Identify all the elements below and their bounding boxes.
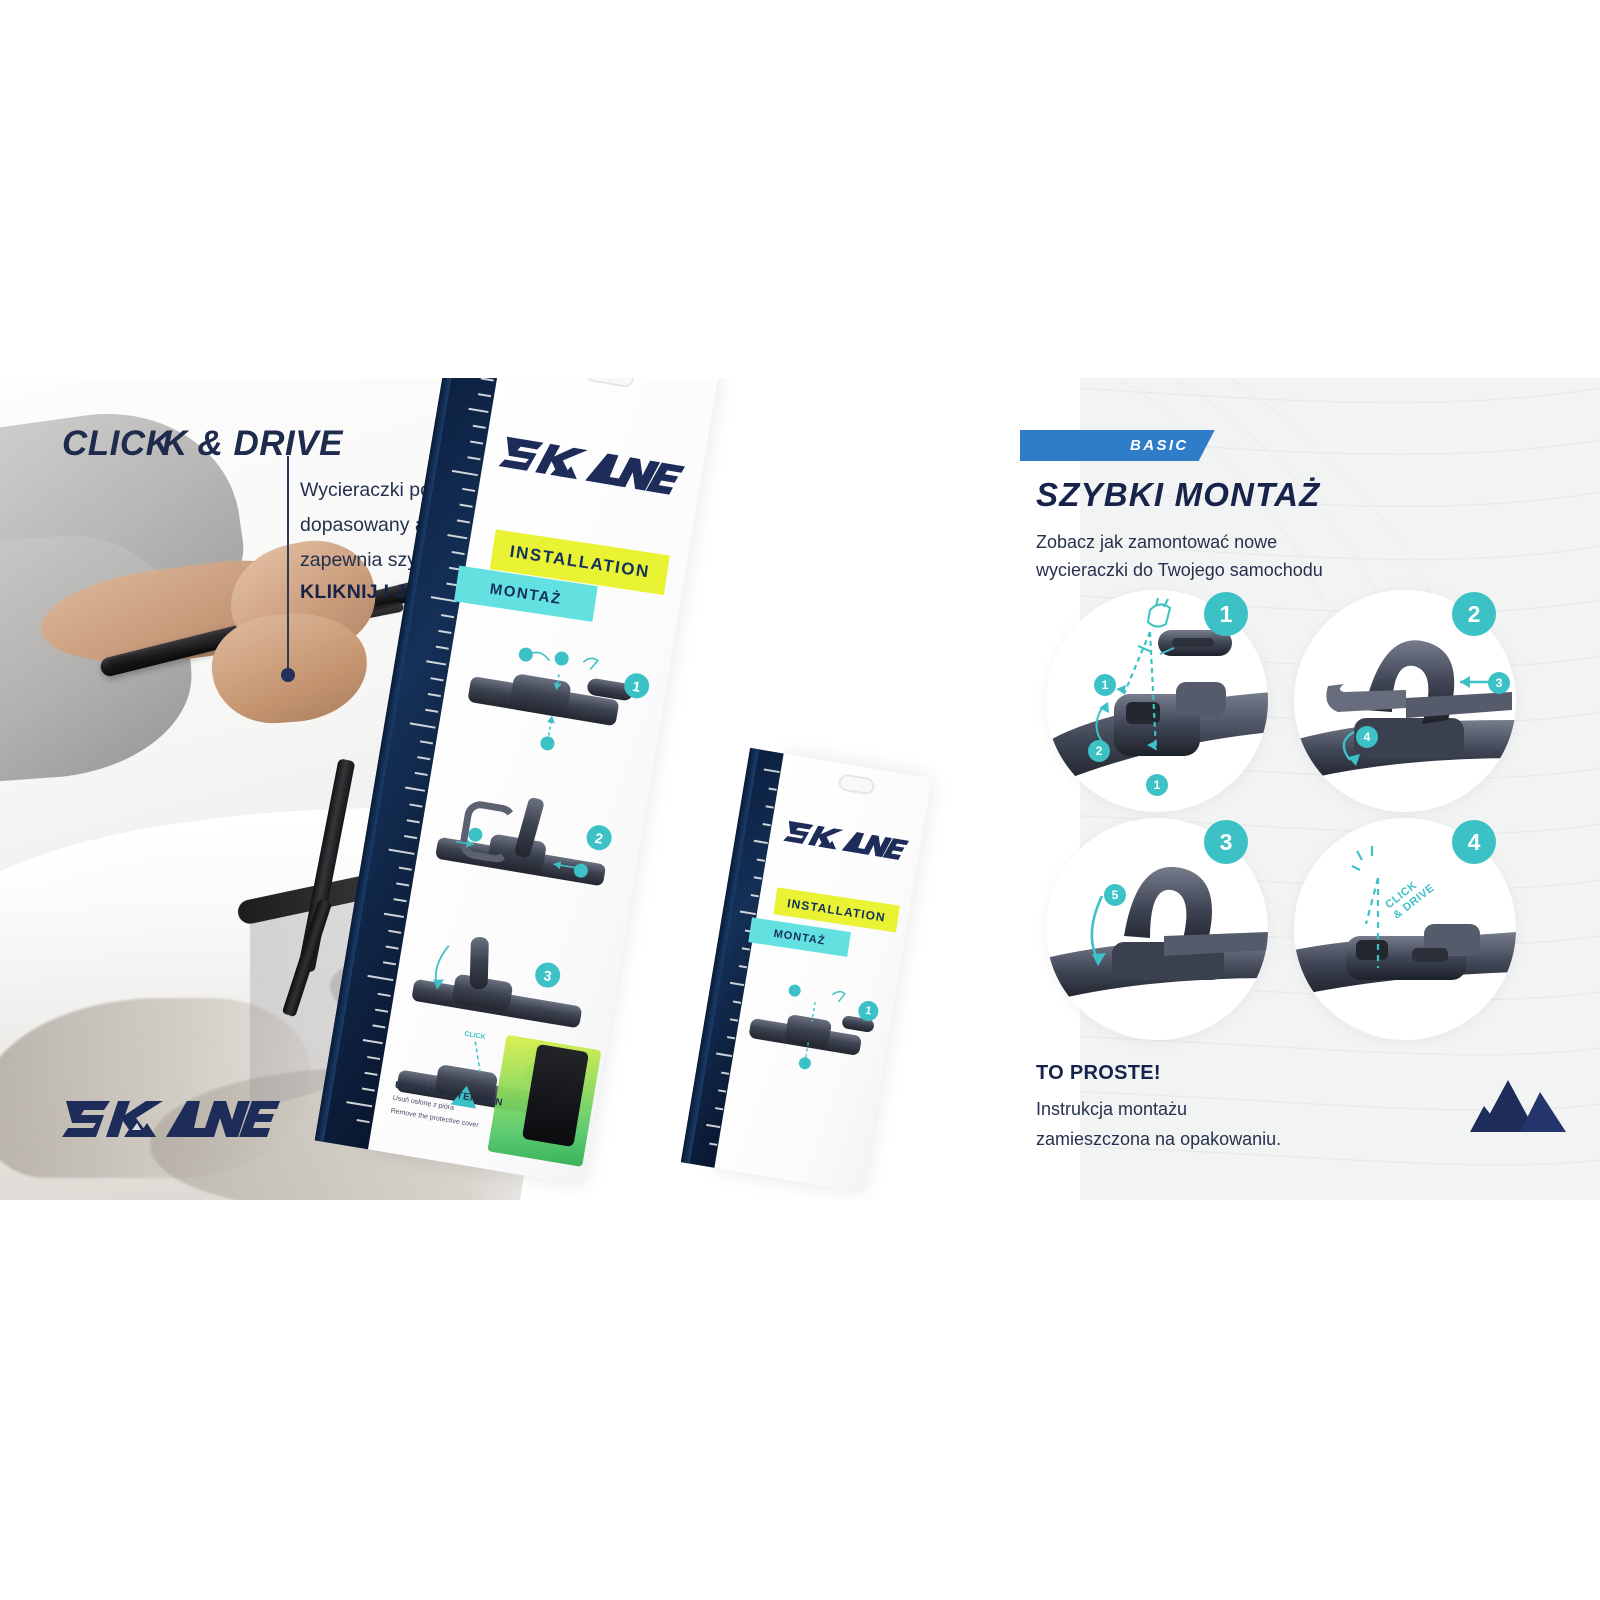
step-number-1: 1 [1204, 592, 1248, 636]
package-step-illustration-1: 1 [742, 970, 882, 1085]
step-mark: 1 [1146, 774, 1168, 796]
easy-body-line-1: Instrukcja montażu [1036, 1094, 1376, 1124]
step-number-3: 3 [1204, 820, 1248, 864]
content-band: CLICKK & DRIVE Wycieraczki posiadają dop… [0, 378, 1600, 1200]
headline-pre: CLIC [62, 424, 146, 463]
step-mark: 4 [1356, 726, 1378, 748]
product-packaging-group: INSTALLATION MONTAŻ 1 [380, 378, 1060, 1200]
right-title: SZYBKI MONTAŻ [1036, 476, 1320, 514]
package-large: INSTALLATION MONTAŻ 1 [368, 378, 720, 1185]
connector-line [287, 456, 289, 674]
brand-logo-left [62, 1092, 280, 1138]
click-and-drive-title: CLICKK & DRIVE [62, 424, 343, 464]
package-small: INSTALLATION MONTAŻ 1 [714, 754, 931, 1193]
right-subtitle-line-1: Zobacz jak zamontować nowe [1036, 528, 1426, 556]
step-number-2: 2 [1452, 592, 1496, 636]
step-mark: 5 [1104, 884, 1126, 906]
easy-body: Instrukcja montażu zamieszczona na opako… [1036, 1094, 1376, 1154]
easy-title: TO PROSTE! [1036, 1062, 1161, 1085]
headline-chevron-k: KK [146, 424, 179, 463]
right-panel: BASIC SZYBKI MONTAŻ Zobacz jak zamontowa… [1030, 378, 1600, 1200]
step-number-4: 4 [1452, 820, 1496, 864]
basic-badge: BASIC [1020, 430, 1215, 461]
step-mark: 3 [1488, 672, 1510, 694]
easy-body-line-2: zamieszczona na opakowaniu. [1036, 1124, 1376, 1154]
right-subtitle: Zobacz jak zamontować nowe wycieraczki d… [1036, 528, 1426, 584]
headline-post: & DRIVE [187, 424, 343, 463]
step-mark: 2 [1088, 740, 1110, 762]
mountain-logo-icon [1470, 1078, 1566, 1134]
connector-dot [281, 668, 295, 682]
right-subtitle-line-2: wycieraczki do Twojego samochodu [1036, 556, 1426, 584]
infographic-canvas: CLICKK & DRIVE Wycieraczki posiadają dop… [0, 0, 1600, 1600]
steps-grid: 1 2 1 [1036, 590, 1566, 1030]
step-mark: 1 [1094, 674, 1116, 696]
svg-text:CLICK: CLICK [464, 1031, 486, 1041]
